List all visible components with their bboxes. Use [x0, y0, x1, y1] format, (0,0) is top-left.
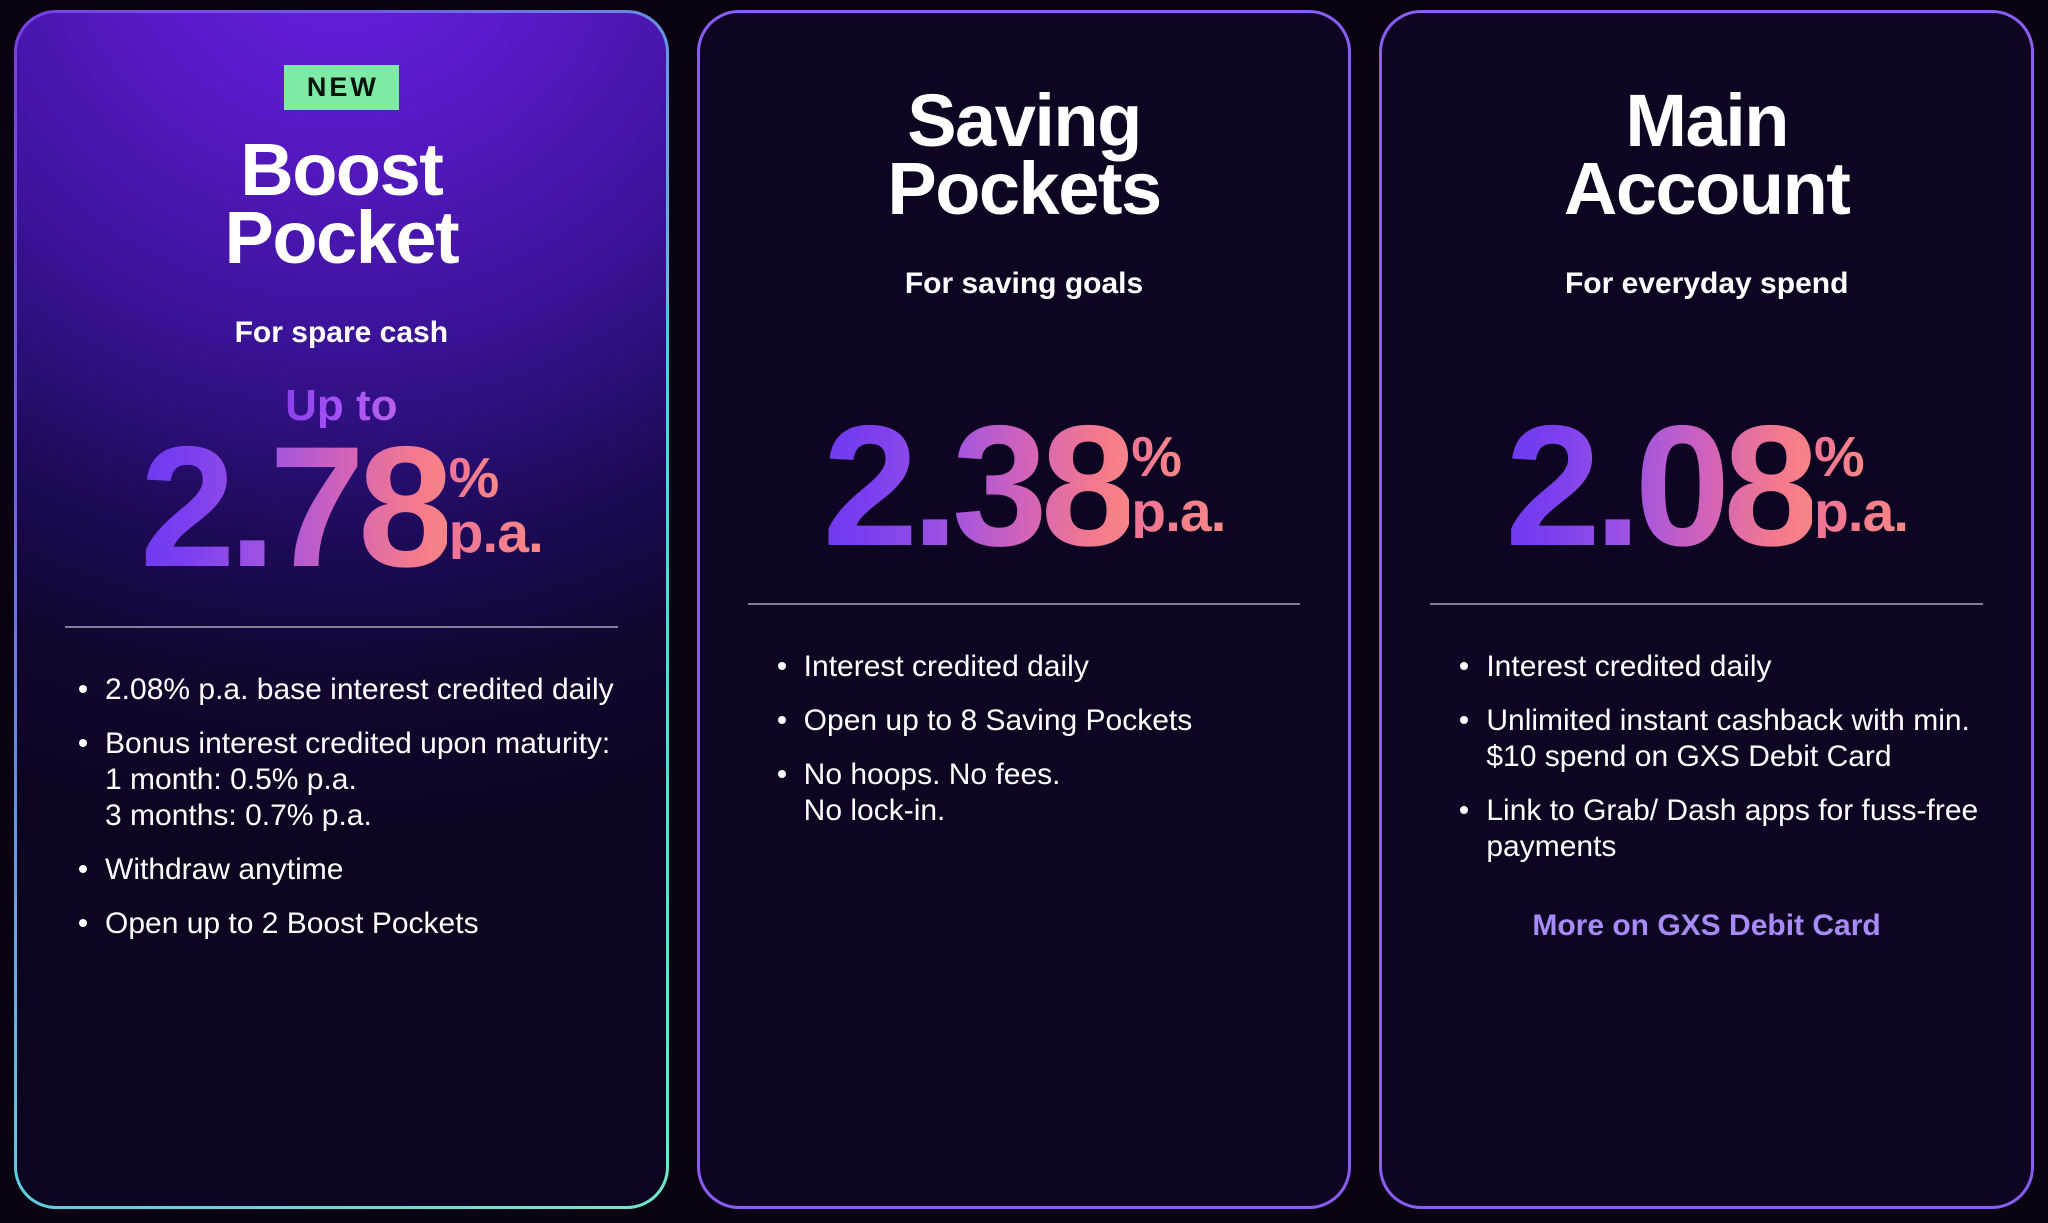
card-title-line2: Pocket — [225, 204, 459, 272]
rate-value: 2.78 — [140, 434, 447, 582]
card-saving-pockets[interactable]: Saving Pockets For saving goals 2.38 % p… — [697, 10, 1352, 1209]
list-item: No hoops. No fees. No lock-in. — [778, 757, 1309, 829]
rate-row: 2.38 % p.a. — [823, 413, 1226, 561]
card-subtitle: For everyday spend — [1565, 267, 1848, 301]
card-main-account[interactable]: Main Account For everyday spend 2.08 % p… — [1379, 10, 2034, 1209]
rate-per-annum-label: p.a. — [449, 507, 543, 559]
rate-suffix: % p.a. — [1131, 431, 1225, 538]
card-subtitle: For spare cash — [235, 316, 448, 350]
rate-block: 2.78 % p.a. — [140, 434, 543, 582]
account-comparison-cards: NEW Boost Pocket For spare cash Up to 2.… — [0, 0, 2048, 1223]
card-boost-pocket[interactable]: NEW Boost Pocket For spare cash Up to 2.… — [14, 10, 669, 1209]
list-item: Open up to 2 Boost Pockets — [79, 906, 616, 942]
list-item: Interest credited daily — [1460, 649, 1991, 685]
card-subtitle: For saving goals — [905, 267, 1143, 301]
card-title: Boost Pocket — [225, 136, 459, 272]
card-saving-pockets-body: Saving Pockets For saving goals 2.38 % p… — [700, 13, 1349, 1206]
list-item: Open up to 8 Saving Pockets — [778, 703, 1309, 739]
list-item: Interest credited daily — [778, 649, 1309, 685]
card-title-line1: Main — [1564, 87, 1850, 155]
new-badge: NEW — [284, 65, 399, 110]
card-title-line1: Boost — [225, 136, 459, 204]
rate-row: 2.08 % p.a. — [1505, 413, 1908, 561]
divider — [748, 603, 1301, 605]
card-main-account-body: Main Account For everyday spend 2.08 % p… — [1382, 13, 2031, 1206]
list-item: Unlimited instant cashback with min. $10… — [1460, 703, 1991, 775]
rate-suffix: % p.a. — [449, 452, 543, 559]
card-title: Main Account — [1564, 87, 1850, 223]
card-title: Saving Pockets — [887, 87, 1160, 223]
card-boost-pocket-body: NEW Boost Pocket For spare cash Up to 2.… — [17, 13, 666, 1206]
list-item: Bonus interest credited upon maturity: 1… — [79, 726, 616, 834]
feature-list: Interest credited daily Unlimited instan… — [1382, 649, 2031, 883]
rate-block: 2.08 % p.a. — [1505, 413, 1908, 561]
feature-list: 2.08% p.a. base interest credited daily … — [17, 672, 666, 960]
rate-value: 2.38 — [823, 413, 1130, 561]
rate-percent-symbol: % — [1131, 431, 1182, 483]
card-title-line2: Pockets — [887, 155, 1160, 223]
rate-block: 2.38 % p.a. — [823, 413, 1226, 561]
divider — [1430, 603, 1983, 605]
divider — [65, 626, 618, 628]
rate-row: 2.78 % p.a. — [140, 434, 543, 582]
more-on-gxs-debit-card-link[interactable]: More on GXS Debit Card — [1532, 909, 1880, 943]
list-item: Link to Grab/ Dash apps for fuss-free pa… — [1460, 793, 1991, 865]
card-title-line2: Account — [1564, 155, 1850, 223]
rate-per-annum-label: p.a. — [1814, 486, 1908, 538]
feature-list: Interest credited daily Open up to 8 Sav… — [700, 649, 1349, 847]
rate-value: 2.08 — [1505, 413, 1812, 561]
rate-per-annum-label: p.a. — [1131, 486, 1225, 538]
more-link-row: More on GXS Debit Card — [1382, 883, 2031, 943]
rate-percent-symbol: % — [449, 452, 500, 504]
list-item: 2.08% p.a. base interest credited daily — [79, 672, 616, 708]
rate-suffix: % p.a. — [1814, 431, 1908, 538]
list-item: Withdraw anytime — [79, 852, 616, 888]
card-title-line1: Saving — [887, 87, 1160, 155]
rate-percent-symbol: % — [1814, 431, 1865, 483]
